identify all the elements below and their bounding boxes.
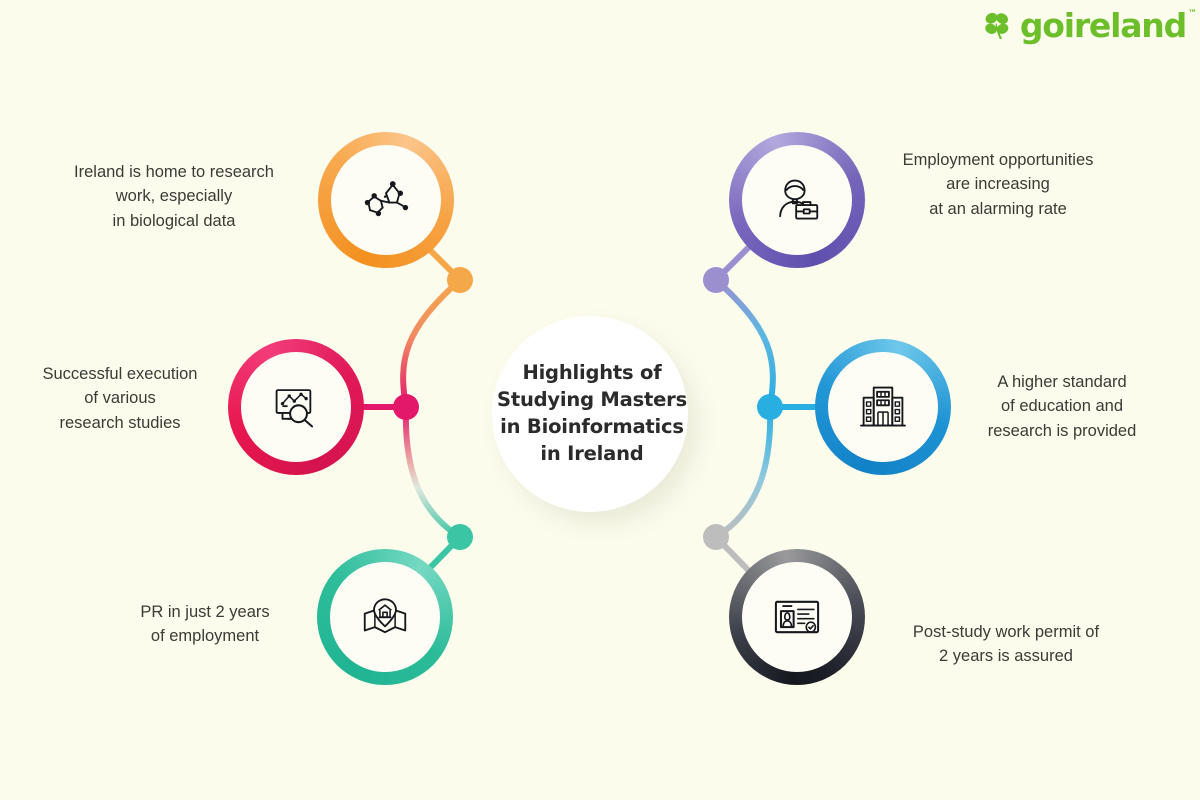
- junction-dot-studies: [393, 394, 419, 420]
- brand-wordmark: goireland ™: [1020, 9, 1186, 42]
- map-location-building-icon: [358, 590, 412, 644]
- node-permit[interactable]: [729, 549, 865, 685]
- hub-title: Highlights of Studying Masters in Bioinf…: [497, 360, 687, 468]
- junction-dot-research: [447, 267, 473, 293]
- brand-wordmark-text: goireland: [1020, 6, 1186, 45]
- node-studies[interactable]: [228, 339, 364, 475]
- hub-title-line-3: in Bioinformatics: [497, 414, 687, 441]
- label-pr: PR in just 2 years of employment: [104, 600, 306, 649]
- shamrock-icon: [980, 8, 1014, 42]
- wire-left-upper: [403, 280, 460, 407]
- hub-title-line-4: in Ireland: [497, 441, 687, 468]
- university-building-icon: [856, 380, 910, 434]
- center-hub: Highlights of Studying Masters in Bioinf…: [488, 338, 696, 490]
- id-card-permit-icon: [770, 590, 824, 644]
- node-inner-education: [832, 356, 934, 458]
- junction-dot-education: [757, 394, 783, 420]
- infographic-canvas: goireland ™: [0, 0, 1200, 800]
- label-studies: Successful execution of various research…: [14, 362, 226, 435]
- worker-briefcase-icon: [770, 173, 824, 227]
- junction-dot-pr: [447, 524, 473, 550]
- brand-logo[interactable]: goireland ™: [980, 8, 1186, 42]
- wire-left-lower: [406, 407, 460, 537]
- node-inner-employment: [746, 149, 848, 251]
- label-research: Ireland is home to research work, especi…: [38, 160, 310, 233]
- hub-title-line-1: Highlights of: [497, 360, 687, 387]
- wire-stub-permit: [716, 537, 752, 574]
- wire-stub-employment: [716, 244, 752, 280]
- label-permit: Post-study work permit of 2 years is ass…: [884, 620, 1128, 669]
- hub-title-line-2: Studying Masters: [497, 387, 687, 414]
- node-inner-permit: [746, 566, 848, 668]
- wire-right-lower: [716, 407, 770, 537]
- node-inner-research: [335, 149, 437, 251]
- node-inner-pr: [334, 566, 436, 668]
- wire-right-upper: [716, 280, 773, 407]
- junction-dot-permit: [703, 524, 729, 550]
- junction-dot-employment: [703, 267, 729, 293]
- node-research[interactable]: [318, 132, 454, 268]
- node-inner-studies: [245, 356, 347, 458]
- node-education[interactable]: [815, 339, 951, 475]
- node-employment[interactable]: [729, 132, 865, 268]
- node-pr[interactable]: [317, 549, 453, 685]
- chart-monitor-magnifier-icon: [269, 380, 323, 434]
- label-employment: Employment opportunities are increasing …: [872, 148, 1124, 221]
- label-education: A higher standard of education and resea…: [958, 370, 1166, 443]
- trademark-symbol: ™: [1188, 10, 1197, 19]
- molecule-icon: [359, 173, 413, 227]
